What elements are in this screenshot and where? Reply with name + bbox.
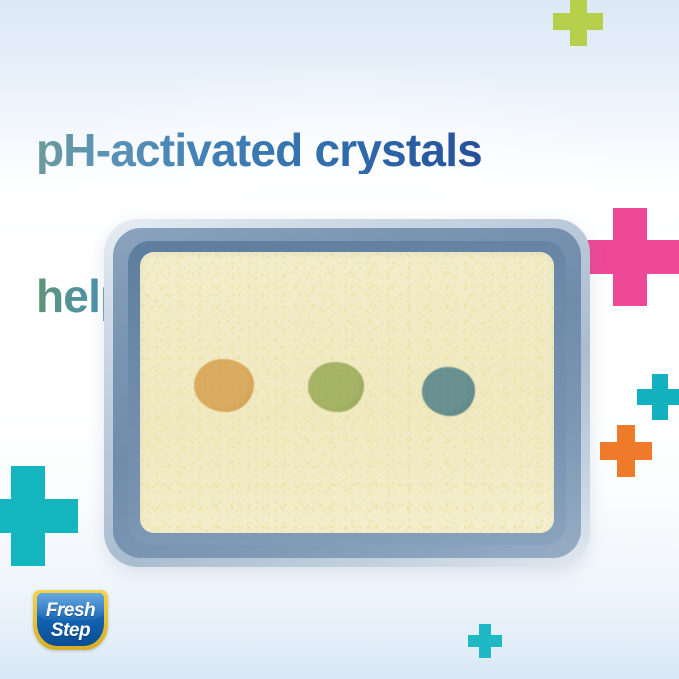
cross-horizontal-bar xyxy=(637,389,679,405)
litter-crystal-bed xyxy=(140,252,554,533)
cross-pink-right xyxy=(581,208,679,306)
cross-green-top-right xyxy=(553,0,603,46)
cross-horizontal-bar xyxy=(468,635,502,647)
cross-horizontal-bar xyxy=(581,240,679,274)
marketing-image-canvas: pH-activated crystals help detect illnes… xyxy=(0,0,679,679)
litter-box-image xyxy=(104,219,590,567)
cross-horizontal-bar xyxy=(553,13,603,30)
fresh-step-logo[interactable]: Fresh Step xyxy=(33,590,108,650)
spot-crystal-speckle xyxy=(308,362,364,413)
spot-crystal-speckle xyxy=(422,367,476,416)
headline-line-1: pH-activated crystals xyxy=(36,126,636,175)
cross-horizontal-bar xyxy=(600,442,652,460)
cross-teal-right-upper xyxy=(637,374,679,420)
cross-teal-bottom xyxy=(468,624,502,658)
cross-orange-right-lower xyxy=(600,425,652,477)
logo-text-line-1: Fresh xyxy=(46,601,95,620)
spot-crystal-speckle xyxy=(194,359,254,412)
logo-text-line-2: Step xyxy=(51,621,90,640)
cross-teal-left xyxy=(0,466,78,566)
spot-yellow-green xyxy=(308,362,364,413)
cross-horizontal-bar xyxy=(0,499,78,533)
logo-wordmark: Fresh Step xyxy=(33,590,108,650)
spot-teal xyxy=(422,367,476,416)
spot-orange xyxy=(194,359,254,412)
